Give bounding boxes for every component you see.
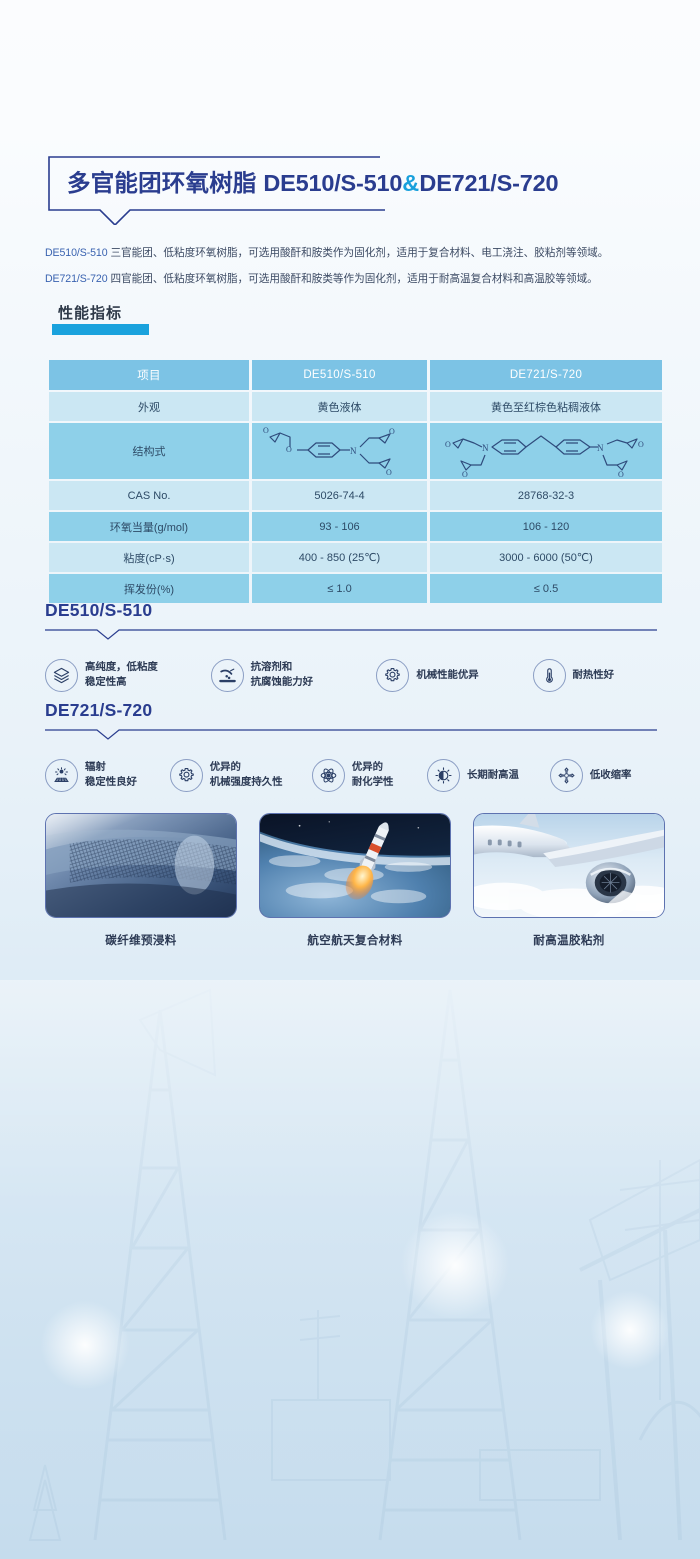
row-label-viscosity: 粘度(cP·s) bbox=[49, 543, 249, 572]
performance-table: 项目 DE510/S-510 DE721/S-720 外观 黄色液体 黄色至红棕… bbox=[46, 358, 665, 605]
table-row: 环氧当量(g/mol) 93 - 106 106 - 120 bbox=[49, 512, 662, 541]
feature-label: 长期耐高温 bbox=[467, 768, 519, 783]
feature-line2: 抗腐蚀能力好 bbox=[251, 677, 313, 688]
feature-label: 辐射 稳定性良好 bbox=[85, 760, 137, 790]
page-title: 多官能团环氧树脂 DE510/S-510&DE721/S-720 bbox=[67, 164, 558, 198]
table-row: 外观 黄色液体 黄色至红棕色粘稠液体 bbox=[49, 392, 662, 421]
product-name-de721: DE721/S-720 bbox=[45, 700, 657, 721]
radiation-solar-icon bbox=[45, 759, 78, 792]
intro-text-de721: 四官能团、低粘度环氧树脂，可选用酸酐和胺类等作为固化剂，适用于耐高温复合材料和高… bbox=[110, 273, 597, 285]
feature-row-de510: 高纯度，低粘度 稳定性高 抗溶剂和 抗腐蚀能力好 bbox=[45, 652, 665, 698]
feature-mechanical: 机械性能优异 bbox=[376, 659, 532, 692]
product-rule-de510 bbox=[45, 627, 657, 639]
atom-icon bbox=[312, 759, 345, 792]
feature-label: 优异的 耐化学性 bbox=[352, 760, 394, 790]
oil-derrick-watermark bbox=[0, 980, 700, 1559]
thermometer-icon bbox=[533, 659, 566, 692]
row-value-cas-de721: 28768-32-3 bbox=[430, 481, 662, 510]
gear-icon bbox=[376, 659, 409, 692]
title-model-a: DE510/S-510 bbox=[263, 170, 402, 196]
feature-line2: 耐化学性 bbox=[352, 777, 394, 788]
feature-line1: 优异的 bbox=[352, 762, 383, 773]
application-caption: 航空航天复合材料 bbox=[259, 932, 451, 948]
layers-icon bbox=[45, 659, 78, 692]
row-value-viscosity-de721: 3000 - 6000 (50℃) bbox=[430, 543, 662, 572]
feature-radiation-stability: 辐射 稳定性良好 bbox=[45, 759, 170, 792]
feature-line1: 低收缩率 bbox=[590, 770, 632, 781]
feature-mechanical-durability: 优异的 机械强度持久性 bbox=[170, 759, 312, 792]
feature-line2: 稳定性良好 bbox=[85, 777, 137, 788]
feature-label: 低收缩率 bbox=[590, 768, 632, 783]
heading-label: 性能指标 bbox=[58, 302, 122, 323]
feature-line1: 抗溶剂和 bbox=[251, 662, 293, 673]
intro-text-de510: 三官能团、低粘度环氧树脂，可选用酸酐和胺类作为固化剂，适用于复合材料、电工浇注、… bbox=[110, 247, 608, 259]
product-rule-de721 bbox=[45, 727, 657, 739]
svg-text:O: O bbox=[263, 426, 269, 435]
svg-text:N: N bbox=[350, 446, 357, 456]
row-label-structure: 结构式 bbox=[49, 423, 249, 479]
application-card-adhesive: 耐高温胶粘剂 bbox=[473, 813, 665, 948]
gear-icon bbox=[170, 759, 203, 792]
product-name-de510: DE510/S-510 bbox=[45, 600, 657, 621]
feature-long-term-heat: 长期耐高温 bbox=[427, 759, 550, 792]
feature-line1: 长期耐高温 bbox=[467, 770, 519, 781]
title-ampersand: & bbox=[402, 170, 419, 196]
row-value-volatile-de510: ≤ 1.0 bbox=[252, 574, 427, 603]
feature-line1: 耐热性好 bbox=[573, 670, 615, 681]
intro-code-de721: DE721/S-720 bbox=[45, 273, 108, 285]
product-heading-de510: DE510/S-510 bbox=[45, 600, 657, 646]
shrinkage-arrows-icon bbox=[550, 759, 583, 792]
feature-row-de721: 辐射 稳定性良好 优异的 机械强度持久性 bbox=[45, 752, 665, 798]
table-header-item: 项目 bbox=[49, 360, 249, 390]
row-value-appearance-de721: 黄色至红棕色粘稠液体 bbox=[430, 392, 662, 421]
row-value-viscosity-de510: 400 - 850 (25℃) bbox=[252, 543, 427, 572]
table-row: 挥发份(%) ≤ 1.0 ≤ 0.5 bbox=[49, 574, 662, 603]
feature-high-purity: 高纯度，低粘度 稳定性高 bbox=[45, 659, 211, 692]
svg-text:N: N bbox=[597, 443, 604, 453]
intro-line-de721: DE721/S-720 四官能团、低粘度环氧树脂，可选用酸酐和胺类等作为固化剂，… bbox=[45, 266, 657, 292]
aircraft-engine-photo bbox=[473, 813, 665, 918]
feature-line1: 优异的 bbox=[210, 762, 241, 773]
feature-line2: 机械强度持久性 bbox=[210, 777, 283, 788]
row-value-appearance-de510: 黄色液体 bbox=[252, 392, 427, 421]
row-value-cas-de510: 5026-74-4 bbox=[252, 481, 427, 510]
svg-text:O: O bbox=[286, 445, 292, 454]
svg-text:O: O bbox=[618, 470, 624, 477]
performance-section-heading: 性能指标 bbox=[52, 302, 252, 338]
feature-heat-resistance: 耐热性好 bbox=[533, 659, 666, 692]
feature-low-shrinkage: 低收缩率 bbox=[550, 759, 665, 792]
feature-label: 高纯度，低粘度 稳定性高 bbox=[85, 660, 158, 690]
feature-label: 耐热性好 bbox=[573, 668, 615, 683]
intro-paragraphs: DE510/S-510 三官能团、低粘度环氧树脂，可选用酸酐和胺类作为固化剂，适… bbox=[45, 240, 657, 292]
table-row: 粘度(cP·s) 400 - 850 (25℃) 3000 - 6000 (50… bbox=[49, 543, 662, 572]
structure-formula-de721: O N O bbox=[430, 423, 662, 479]
title-model-b: DE721/S-720 bbox=[419, 170, 558, 196]
page-title-block: 多官能团环氧树脂 DE510/S-510&DE721/S-720 bbox=[45, 155, 645, 225]
svg-text:O: O bbox=[462, 470, 468, 477]
row-label-appearance: 外观 bbox=[49, 392, 249, 421]
svg-text:O: O bbox=[638, 440, 644, 449]
intro-code-de510: DE510/S-510 bbox=[45, 247, 108, 259]
corrosion-drop-icon bbox=[211, 659, 244, 692]
table-header-de510: DE510/S-510 bbox=[252, 360, 427, 390]
svg-text:N: N bbox=[482, 443, 489, 453]
svg-text:O: O bbox=[389, 427, 395, 436]
row-label-eew: 环氧当量(g/mol) bbox=[49, 512, 249, 541]
feature-line2: 稳定性高 bbox=[85, 677, 127, 688]
table-row: 结构式 O bbox=[49, 423, 662, 479]
feature-label: 优异的 机械强度持久性 bbox=[210, 760, 283, 790]
row-value-volatile-de721: ≤ 0.5 bbox=[430, 574, 662, 603]
application-gallery: 碳纤维预浸料 bbox=[45, 813, 665, 948]
feature-label: 抗溶剂和 抗腐蚀能力好 bbox=[251, 660, 313, 690]
structure-formula-de510: O N O bbox=[252, 423, 427, 479]
heading-underline-bar bbox=[52, 324, 149, 335]
feature-label: 机械性能优异 bbox=[416, 668, 478, 683]
row-label-volatile: 挥发份(%) bbox=[49, 574, 249, 603]
table-row: CAS No. 5026-74-4 28768-32-3 bbox=[49, 481, 662, 510]
rocket-launch-photo bbox=[259, 813, 451, 918]
table-header-row: 项目 DE510/S-510 DE721/S-720 bbox=[49, 360, 662, 390]
application-card-aerospace: 航空航天复合材料 bbox=[259, 813, 451, 948]
feature-chemical-resistance: 优异的 耐化学性 bbox=[312, 759, 427, 792]
intro-line-de510: DE510/S-510 三官能团、低粘度环氧树脂，可选用酸酐和胺类作为固化剂，适… bbox=[45, 240, 657, 266]
svg-text:O: O bbox=[386, 468, 392, 477]
feature-line1: 辐射 bbox=[85, 762, 106, 773]
application-caption: 碳纤维预浸料 bbox=[45, 932, 237, 948]
row-value-eew-de721: 106 - 120 bbox=[430, 512, 662, 541]
application-caption: 耐高温胶粘剂 bbox=[473, 932, 665, 948]
svg-text:O: O bbox=[445, 440, 451, 449]
row-value-eew-de510: 93 - 106 bbox=[252, 512, 427, 541]
title-prefix: 多官能团环氧树脂 bbox=[67, 170, 257, 196]
row-label-cas: CAS No. bbox=[49, 481, 249, 510]
feature-line1: 高纯度，低粘度 bbox=[85, 662, 158, 673]
heat-sun-icon bbox=[427, 759, 460, 792]
product-heading-de721: DE721/S-720 bbox=[45, 700, 657, 746]
application-card-prepreg: 碳纤维预浸料 bbox=[45, 813, 237, 948]
feature-line1: 机械性能优异 bbox=[416, 670, 478, 681]
feature-solvent-corrosion: 抗溶剂和 抗腐蚀能力好 bbox=[211, 659, 377, 692]
carbon-fiber-prepreg-photo bbox=[45, 813, 237, 918]
table-header-de721: DE721/S-720 bbox=[430, 360, 662, 390]
